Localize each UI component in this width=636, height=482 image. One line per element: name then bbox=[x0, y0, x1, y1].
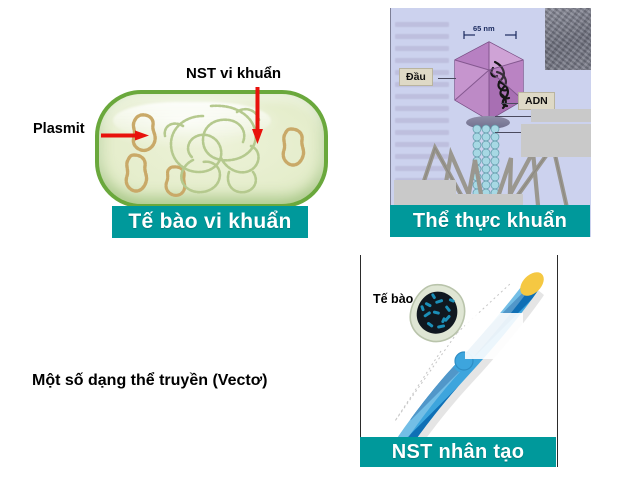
caption-artificial-chromosome: NST nhân tạo bbox=[360, 437, 556, 467]
caption-bacterial-cell: Tế bào vi khuẩn bbox=[112, 206, 308, 238]
bacteriophage-panel: 65 nm bbox=[390, 8, 591, 237]
cell-nucleus-inset bbox=[407, 283, 469, 343]
blank-label-box bbox=[521, 124, 591, 157]
white-redaction-area bbox=[465, 313, 523, 359]
plasmid-label: Plasmit bbox=[33, 121, 85, 137]
bacterial-chromosome-label: NST vi khuẩn bbox=[186, 65, 281, 82]
phage-head-label: Đầu bbox=[399, 68, 433, 86]
leader-line-1 bbox=[495, 116, 535, 117]
bacterial-cell-illustration bbox=[95, 90, 328, 208]
cell-label: Tế bào bbox=[373, 292, 413, 306]
main-caption: Một số dạng thể truyền (Vectơ) bbox=[32, 372, 267, 390]
plasmid-arrow-icon bbox=[101, 128, 149, 139]
caption-bacteriophage: Thể thực khuẩn bbox=[390, 205, 590, 237]
leader-line-head bbox=[438, 78, 456, 79]
artificial-chromosome-panel: Tế bào bbox=[360, 255, 558, 467]
plasmid-shape bbox=[121, 152, 153, 196]
plasmid-shape bbox=[277, 126, 309, 170]
blank-label-box bbox=[531, 109, 591, 122]
bacterial-chromosome-arrow-icon bbox=[251, 87, 264, 144]
blank-label-box bbox=[394, 180, 456, 206]
phage-dna-label: ADN bbox=[518, 92, 555, 110]
